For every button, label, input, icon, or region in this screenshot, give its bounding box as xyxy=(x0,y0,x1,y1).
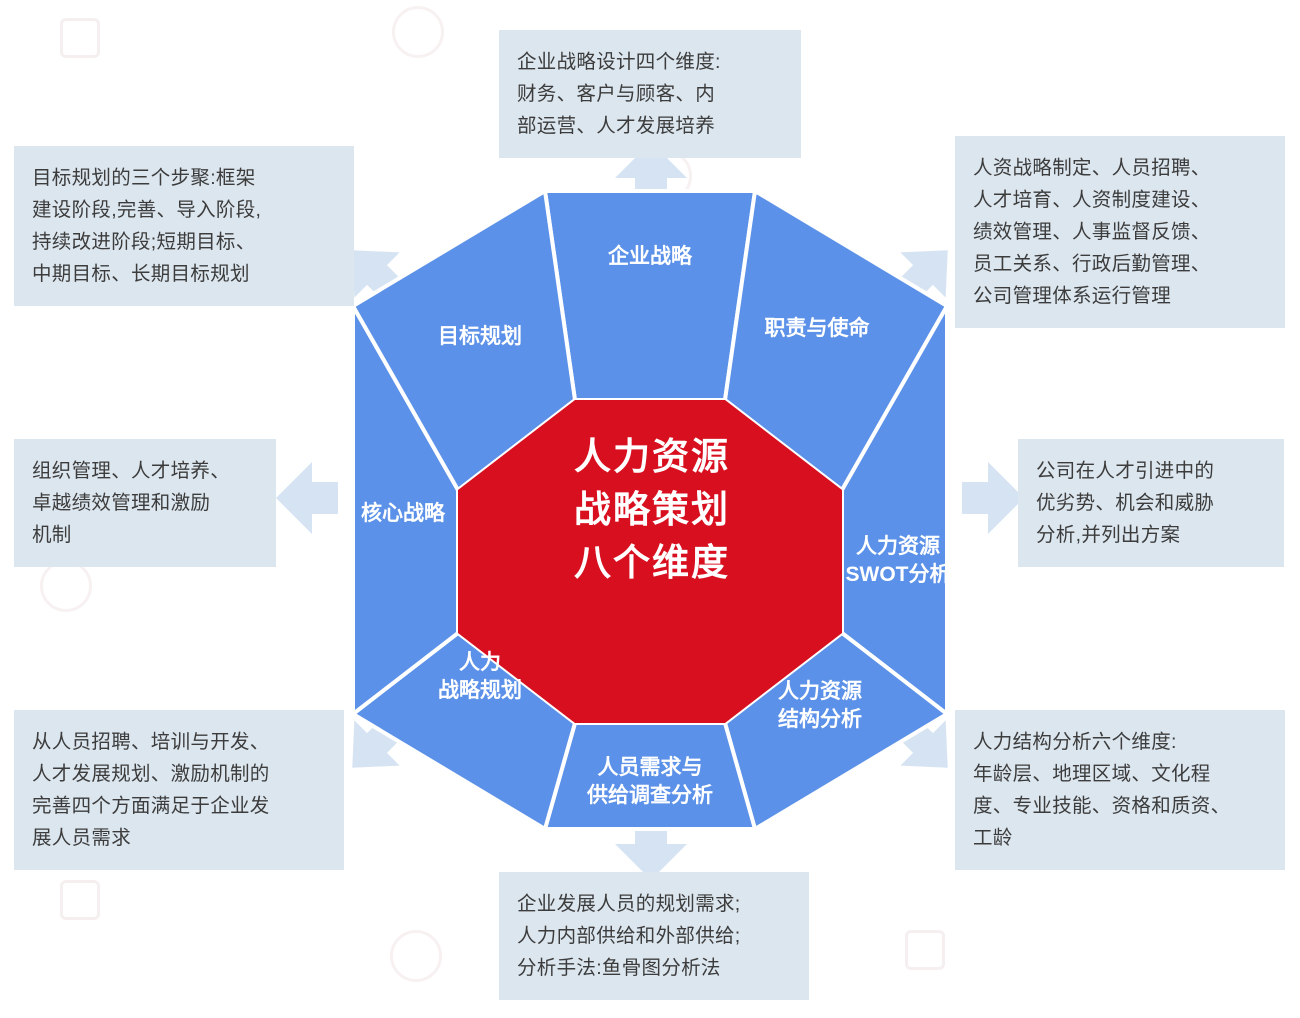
watermark-logo xyxy=(390,930,442,982)
callout-line: 机制 xyxy=(32,519,258,551)
callout-duty-mission: 人资战略制定、人员招聘、 人才培育、人资制度建设、 绩效管理、人事监督反馈、 员… xyxy=(955,136,1285,328)
callout-line: 建设阶段,完善、导入阶段, xyxy=(32,194,336,226)
callout-line: 目标规划的三个步聚:框架 xyxy=(32,162,336,194)
callout-line: 工龄 xyxy=(973,822,1267,854)
callout-line: 完善四个方面满足于企业发 xyxy=(32,790,326,822)
callout-line: 企业战略设计四个维度: xyxy=(517,46,783,78)
callout-goal-planning: 目标规划的三个步聚:框架 建设阶段,完善、导入阶段, 持续改进阶段;短期目标、 … xyxy=(14,146,354,306)
callout-line: 从人员招聘、培训与开发、 xyxy=(32,726,326,758)
callout-line: 度、专业技能、资格和质资、 xyxy=(973,790,1267,822)
callout-line: 人才培育、人资制度建设、 xyxy=(973,184,1267,216)
svg-text:人力资源: 人力资源 xyxy=(856,535,940,558)
callout-line: 绩效管理、人事监督反馈、 xyxy=(973,216,1267,248)
callout-hr-strategy-plan: 从人员招聘、培训与开发、 人才发展规划、激励机制的 完善四个方面满足于企业发 展… xyxy=(14,710,344,870)
callout-core-strategy: 组织管理、人才培养、 卓越绩效管理和激励 机制 xyxy=(14,439,276,567)
callout-enterprise-strategy: 企业战略设计四个维度: 财务、客户与顾客、内 部运营、人才发展培养 xyxy=(499,30,801,158)
watermark-logo xyxy=(60,18,100,58)
callout-line: 优劣势、机会和威胁 xyxy=(1036,487,1266,519)
octagon-wheel: 企业战略 职责与使命 人力资源 SWOT分析 人力资源 结构分析 人员需求与 供… xyxy=(300,175,1000,845)
watermark-logo xyxy=(392,6,444,58)
segment-label-goal-planning: 目标规划 xyxy=(438,324,522,348)
svg-text:SWOT分析: SWOT分析 xyxy=(846,562,951,586)
callout-line: 人力内部供给和外部供给; xyxy=(517,920,791,952)
svg-text:结构分析: 结构分析 xyxy=(778,707,862,731)
callout-line: 公司在人才引进中的 xyxy=(1036,455,1266,487)
callout-line: 展人员需求 xyxy=(32,822,326,854)
svg-text:供给调查分析: 供给调查分析 xyxy=(586,783,713,807)
svg-text:战略策划: 战略策划 xyxy=(574,489,730,530)
svg-text:人力资源: 人力资源 xyxy=(778,680,862,703)
watermark-logo xyxy=(60,880,100,920)
callout-line: 部运营、人才发展培养 xyxy=(517,110,783,142)
svg-text:人力: 人力 xyxy=(459,651,501,674)
segment-enterprise-strategy[interactable] xyxy=(545,191,755,400)
callout-staff-demand-supply: 企业发展人员的规划需求; 人力内部供给和外部供给; 分析手法:鱼骨图分析法 xyxy=(499,872,809,1000)
svg-text:战略规划: 战略规划 xyxy=(438,678,522,702)
callout-line: 组织管理、人才培养、 xyxy=(32,455,258,487)
callout-line: 人力结构分析六个维度: xyxy=(973,726,1267,758)
callout-line: 员工关系、行政后勤管理、 xyxy=(973,248,1267,280)
watermark-logo xyxy=(905,930,945,970)
watermark-logo xyxy=(40,560,92,612)
callout-hr-structure: 人力结构分析六个维度: 年龄层、地理区域、文化程 度、专业技能、资格和质资、 工… xyxy=(955,710,1285,870)
svg-text:人员需求与: 人员需求与 xyxy=(598,756,703,779)
svg-text:八个维度: 八个维度 xyxy=(574,542,730,583)
callout-line: 财务、客户与顾客、内 xyxy=(517,78,783,110)
callout-line: 年龄层、地理区域、文化程 xyxy=(973,758,1267,790)
callout-line: 中期目标、长期目标规划 xyxy=(32,258,336,290)
callout-line: 企业发展人员的规划需求; xyxy=(517,888,791,920)
callout-line: 分析,并列出方案 xyxy=(1036,519,1266,551)
callout-line: 人资战略制定、人员招聘、 xyxy=(973,152,1267,184)
callout-line: 公司管理体系运行管理 xyxy=(973,280,1267,312)
callout-line: 分析手法:鱼骨图分析法 xyxy=(517,952,791,984)
segment-label-enterprise-strategy: 企业战略 xyxy=(607,244,693,268)
segment-label-core-strategy: 核心战略 xyxy=(361,501,446,525)
callout-line: 卓越绩效管理和激励 xyxy=(32,487,258,519)
callout-hr-swot: 公司在人才引进中的 优劣势、机会和威胁 分析,并列出方案 xyxy=(1018,439,1284,567)
segment-label-duty-mission: 职责与使命 xyxy=(765,316,871,340)
svg-text:人力资源: 人力资源 xyxy=(574,436,730,477)
callout-line: 人才发展规划、激励机制的 xyxy=(32,758,326,790)
callout-line: 持续改进阶段;短期目标、 xyxy=(32,226,336,258)
core-label: 人力资源 战略策划 八个维度 xyxy=(574,436,730,583)
diagram-canvas: 企业战略 职责与使命 人力资源 SWOT分析 人力资源 结构分析 人员需求与 供… xyxy=(0,0,1300,1018)
